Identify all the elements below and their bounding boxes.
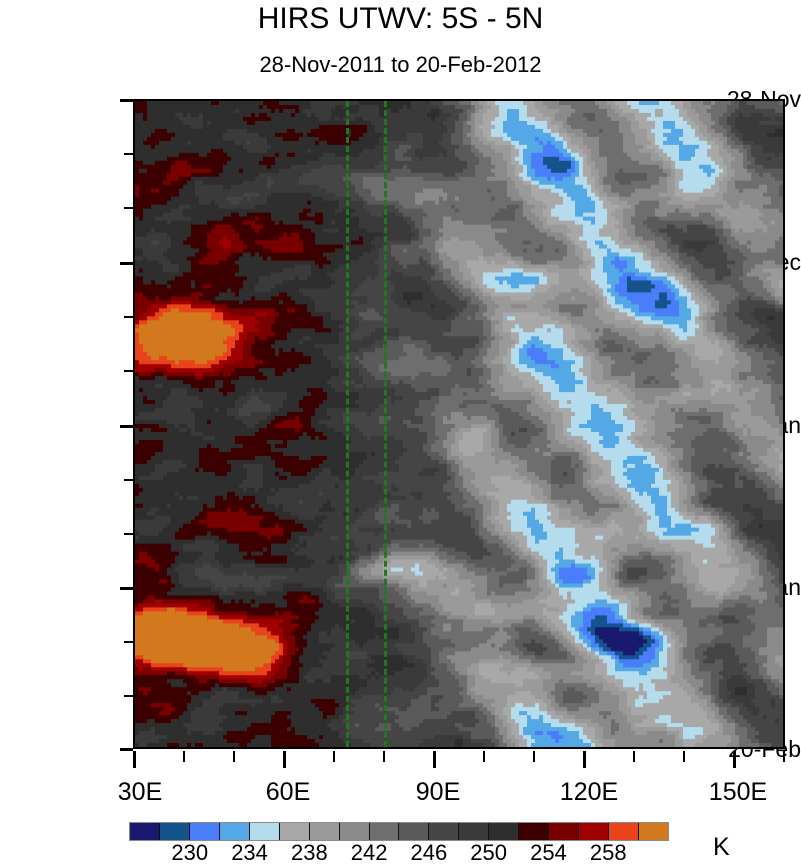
colorbar-tick-label-3: 242 — [351, 840, 388, 866]
x-tick-major — [583, 751, 586, 768]
y-tick-major — [120, 262, 133, 265]
colorbar-tick-label-1: 234 — [231, 840, 268, 866]
y-tick-minor — [124, 479, 133, 481]
x-tick-minor — [483, 751, 485, 762]
colorbar-swatch-13 — [518, 823, 548, 840]
contour-field — [135, 101, 783, 747]
colorbar-swatch-9 — [398, 823, 428, 840]
vline-marker-east — [384, 101, 387, 747]
x-tick-minor — [633, 751, 635, 762]
colorbar-swatch-2 — [189, 823, 219, 840]
colorbar-swatch-10 — [428, 823, 458, 840]
colorbar-swatch-5 — [279, 823, 309, 840]
x-tick-minor — [233, 751, 235, 762]
colorbar-swatch-14 — [548, 823, 578, 840]
colorbar-swatch-4 — [249, 823, 279, 840]
y-tick-major — [120, 587, 133, 590]
colorbar-swatch-1 — [159, 823, 189, 840]
x-tick-minor — [333, 751, 335, 762]
colorbar-swatch-7 — [339, 823, 369, 840]
colorbar-tick-label-4: 246 — [411, 840, 448, 866]
colorbar-tick-label-5: 250 — [470, 840, 507, 866]
colorbar-swatch-16 — [608, 823, 638, 840]
y-tick-major — [120, 99, 133, 102]
y-tick-minor — [124, 153, 133, 155]
y-tick-minor — [124, 370, 133, 372]
y-tick-minor — [124, 207, 133, 209]
x-tick-major — [733, 751, 736, 768]
colorbar-unit: K — [713, 833, 730, 862]
x-tick-minor — [533, 751, 535, 762]
page-subtitle: 28-Nov-2011 to 20-Feb-2012 — [0, 52, 801, 78]
colorbar-tick-label-6: 254 — [530, 840, 567, 866]
colorbar-tick-label-0: 230 — [171, 840, 208, 866]
x-tick-label-1: 60E — [266, 778, 310, 807]
x-tick-label-0: 30E — [118, 778, 162, 807]
colorbar[interactable] — [130, 823, 668, 840]
x-tick-major — [433, 751, 436, 768]
y-tick-minor — [124, 533, 133, 535]
y-tick-major — [120, 748, 133, 751]
plot-area[interactable] — [133, 99, 785, 749]
colorbar-swatch-3 — [219, 823, 249, 840]
colorbar-swatch-15 — [578, 823, 608, 840]
x-tick-label-4: 150E — [709, 778, 767, 807]
colorbar-tick-label-7: 258 — [590, 840, 627, 866]
x-tick-major — [283, 751, 286, 768]
hovmoller-figure: HIRS UTWV: 5S - 5N 28-Nov-2011 to 20-Feb… — [0, 0, 801, 863]
x-tick-label-3: 120E — [560, 778, 618, 807]
colorbar-tick-label-2: 238 — [291, 840, 328, 866]
colorbar-swatch-17 — [638, 823, 668, 840]
vline-marker-west — [346, 101, 349, 747]
y-tick-minor — [124, 695, 133, 697]
x-tick-label-2: 90E — [416, 778, 460, 807]
x-tick-minor — [683, 751, 685, 762]
y-tick-minor — [124, 316, 133, 318]
x-tick-minor — [783, 751, 785, 762]
colorbar-swatch-6 — [309, 823, 339, 840]
y-tick-major — [120, 425, 133, 428]
x-tick-minor — [383, 751, 385, 762]
colorbar-swatch-0 — [130, 823, 159, 840]
x-tick-minor — [183, 751, 185, 762]
colorbar-swatch-12 — [488, 823, 518, 840]
x-tick-major — [133, 751, 136, 768]
colorbar-swatch-11 — [458, 823, 488, 840]
colorbar-swatch-8 — [369, 823, 399, 840]
page-title: HIRS UTWV: 5S - 5N — [0, 2, 801, 36]
y-tick-minor — [124, 641, 133, 643]
